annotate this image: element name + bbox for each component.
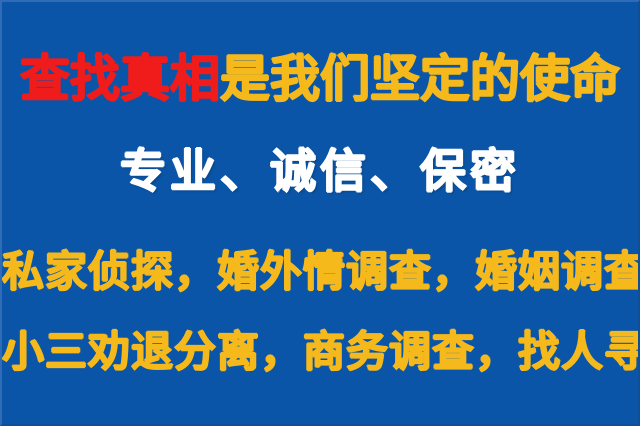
values-line: 专业、诚信、保密 <box>2 148 638 194</box>
services-line-primary: 私家侦探，婚外情调查，婚姻调查， <box>2 251 638 293</box>
headline-emphasis-text: 查找真相 <box>20 50 220 108</box>
services-line-secondary: 小三劝退分离，商务调查，找人寻人 <box>2 331 638 373</box>
advertisement-banner: 查找真相是我们坚定的使命 专业、诚信、保密 私家侦探，婚外情调查，婚姻调查， 小… <box>0 0 640 426</box>
headline-rest-text: 是我们坚定的使命 <box>220 50 620 108</box>
headline-line: 查找真相是我们坚定的使命 <box>2 54 638 104</box>
